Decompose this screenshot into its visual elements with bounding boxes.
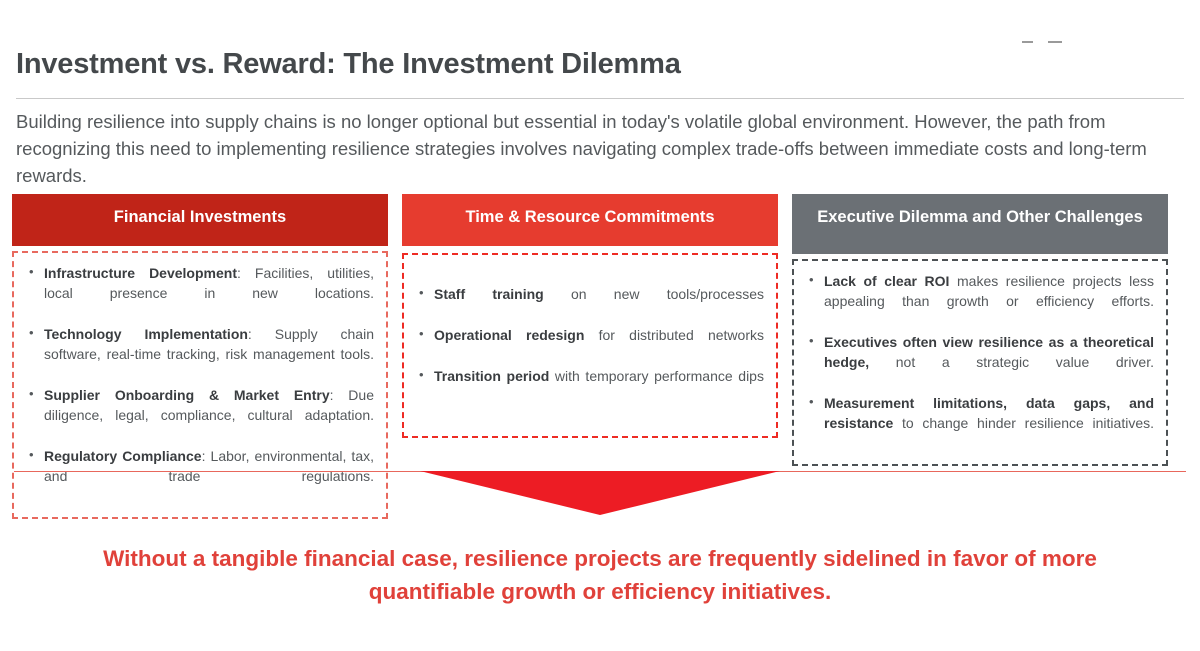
column-body-executive-dilemma: Lack of clear ROI makes resilience proje… [792,259,1168,466]
list-item: Regulatory Compliance: Labor, environmen… [26,446,374,506]
list-item: Infrastructure Development: Facilities, … [26,263,374,323]
list-item-lead: Regulatory Compliance [44,448,202,464]
bullet-list-executive-dilemma: Lack of clear ROI makes resilience proje… [806,271,1154,453]
title-divider [16,98,1184,99]
list-item-rest: for distributed networks [584,327,764,343]
column-executive-dilemma: Executive Dilemma and Other Challenges L… [792,194,1168,466]
list-item-lead: Operational redesign [434,327,584,343]
list-item: Measurement limitations, data gaps, and … [806,393,1154,453]
column-header-executive-dilemma: Executive Dilemma and Other Challenges [792,194,1168,254]
column-header-time-resource-commitments: Time & Resource Commitments [402,194,778,246]
list-item: Supplier Onboarding & Market Entry: Due … [26,385,374,445]
column-header-financial-investments: Financial Investments [12,194,388,246]
list-item-lead: Supplier Onboarding & Market Entry [44,387,330,403]
list-item-lead: Lack of clear ROI [824,273,949,289]
list-item: Technology Implementation: Supply chain … [26,324,374,384]
list-item: Lack of clear ROI makes resilience proje… [806,271,1154,331]
page-title: Investment vs. Reward: The Investment Di… [16,48,681,81]
column-body-financial-investments: Infrastructure Development: Facilities, … [12,251,388,519]
list-item-lead: Transition period [434,368,549,384]
column-time-resource-commitments: Time & Resource Commitments Staff traini… [402,194,778,438]
bullet-list-financial-investments: Infrastructure Development: Facilities, … [26,263,374,506]
down-arrow-icon [420,471,780,515]
list-item-lead: Staff training [434,286,544,302]
column-body-time-resource-commitments: Staff training on new tools/processes Op… [402,253,778,438]
list-item: Transition period with temporary perform… [416,366,764,406]
corner-artifact-icon [1022,39,1064,45]
list-item-rest: on new tools/processes [544,286,764,302]
list-item-lead: Technology Implementation [44,326,248,342]
list-item: Staff training on new tools/processes [416,284,764,324]
bullet-list-time-resource-commitments: Staff training on new tools/processes Op… [416,284,764,407]
bottom-callout: Without a tangible financial case, resil… [50,542,1150,608]
list-item-rest: with temporary performance dips [549,368,764,384]
list-item: Executives often view resilience as a th… [806,332,1154,392]
list-item-lead: Infrastructure Development [44,265,237,281]
page-subtitle: Building resilience into supply chains i… [16,108,1176,189]
list-item-rest: not a strategic value driver. [869,354,1154,370]
list-item-rest: to change hinder resilience initiatives. [893,415,1154,431]
list-item: Operational redesign for distributed net… [416,325,764,365]
slide-root: Investment vs. Reward: The Investment Di… [0,0,1200,651]
